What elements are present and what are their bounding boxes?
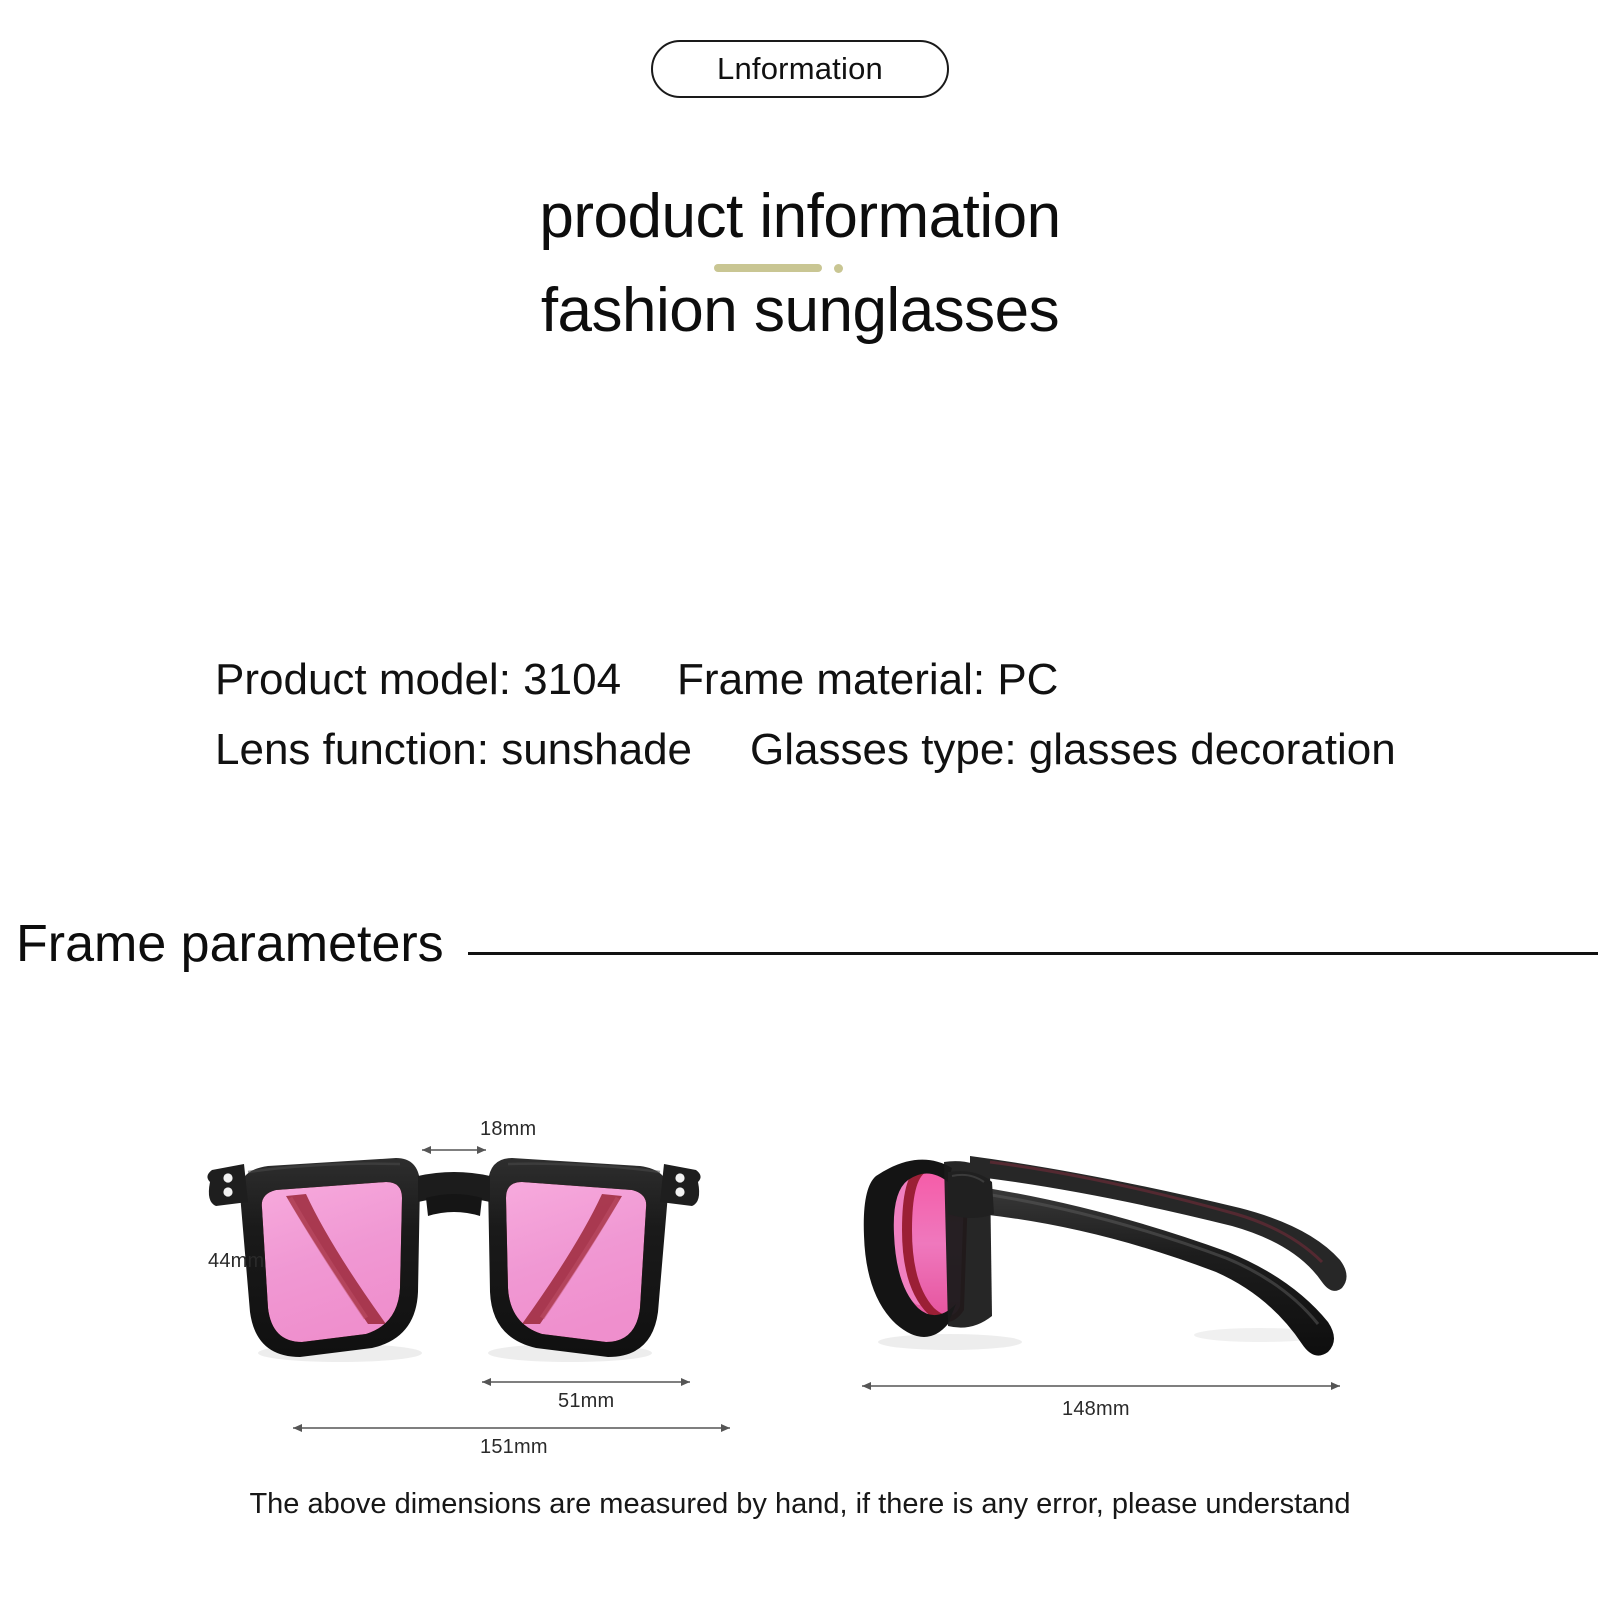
sunglasses-side-view-diagram: 148mm — [840, 1110, 1380, 1470]
spec-glasses-type: Glasses type: glasses decoration — [750, 725, 1396, 774]
bridge-dimension-label: 18mm — [480, 1118, 536, 1141]
bridge-dimension-arrow — [422, 1146, 486, 1154]
hero-title-block: product information fashion sunglasses — [0, 186, 1600, 342]
information-badge-container: Lnformation — [0, 40, 1600, 98]
total-width-dimension-label: 151mm — [480, 1436, 548, 1459]
page-subtitle: fashion sunglasses — [0, 280, 1600, 342]
information-badge: Lnformation — [651, 40, 949, 98]
lens-width-dimension-arrow — [482, 1378, 690, 1386]
temple-length-dimension-arrow — [862, 1382, 1340, 1390]
height-dimension-label: 44mm — [208, 1250, 264, 1273]
spec-lens-function: Lens function: sunshade — [215, 725, 692, 774]
accent-dot-icon — [834, 264, 843, 273]
frame-parameters-header: Frame parameters — [16, 918, 1600, 970]
spec-product-model: Product model: 3104 — [215, 655, 621, 704]
sunglasses-front-view-diagram: 18mm 44mm 51mm 151mm — [190, 1110, 790, 1470]
temple-length-dimension-label: 148mm — [1062, 1398, 1130, 1421]
page-title: product information — [0, 186, 1600, 248]
total-width-dimension-arrow — [293, 1424, 730, 1432]
accent-bar-icon — [714, 264, 822, 272]
title-accent-divider — [0, 256, 1600, 278]
measurement-disclaimer: The above dimensions are measured by han… — [0, 1488, 1600, 1521]
dimension-diagrams: 18mm 44mm 51mm 151mm — [0, 1110, 1600, 1470]
spec-frame-material: Frame material: PC — [677, 655, 1058, 704]
lens-width-dimension-label: 51mm — [558, 1390, 614, 1413]
product-specifications: Product model: 3104Frame material: PC Le… — [215, 645, 1540, 785]
frame-parameters-rule — [468, 952, 1598, 955]
frame-parameters-title: Frame parameters — [16, 918, 444, 970]
spec-row-2: Lens function: sunshadeGlasses type: gla… — [215, 715, 1540, 785]
front-view-illustration — [190, 1110, 790, 1470]
spec-row-1: Product model: 3104Frame material: PC — [215, 645, 1540, 715]
